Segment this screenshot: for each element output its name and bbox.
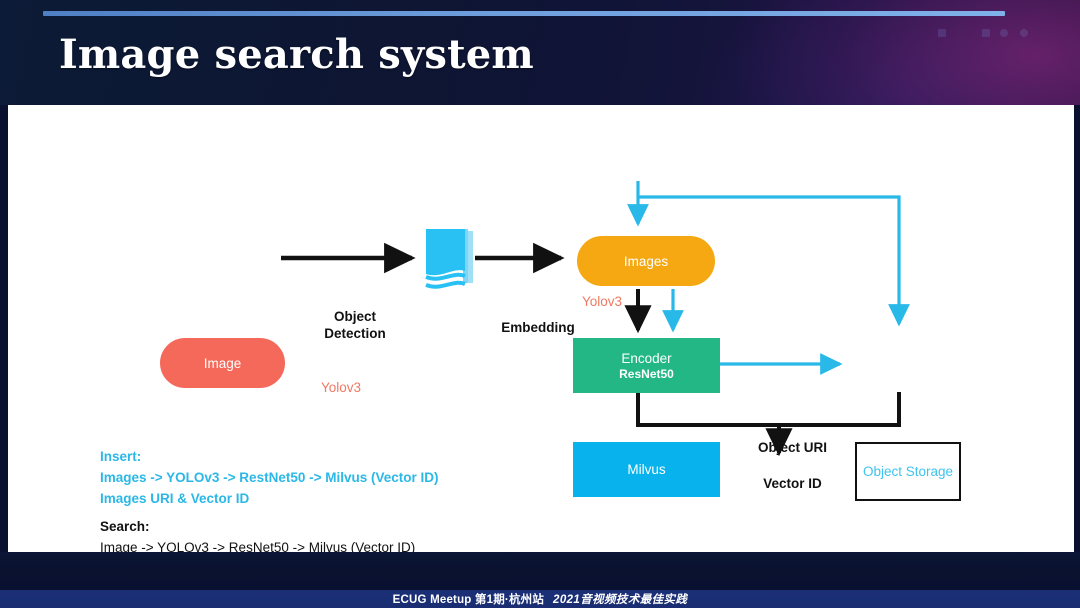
note-insert-heading: Insert:	[100, 446, 439, 467]
node-encoder[interactable]: Encoder ResNet50	[573, 338, 720, 393]
diagram-canvas: Images Image Encoder ResNet50 Milvus Obj…	[8, 105, 1074, 552]
edge-label-object-uri: Object URI	[730, 439, 855, 456]
header-rule	[43, 11, 1005, 16]
edge-label-embedding: Embedding	[484, 319, 592, 336]
edge-label-yolov3-left: Yolov3	[321, 380, 361, 395]
node-images-top[interactable]: Images	[577, 236, 715, 286]
edge-label-vector-id: Vector ID	[730, 475, 855, 492]
node-label: Image	[204, 356, 242, 371]
documents-icon	[420, 227, 482, 295]
square-dot-icon	[938, 29, 946, 37]
footer-theme: 2021音视频技术最佳实践	[553, 591, 687, 607]
note-insert: Insert: Images -> YOLOv3 -> RestNet50 ->…	[100, 446, 439, 509]
round-dot-icon	[982, 29, 990, 37]
slide-header: Image search system	[0, 0, 1080, 105]
edge-milvus-down	[638, 392, 779, 425]
node-milvus[interactable]: Milvus	[573, 442, 720, 497]
node-object-storage[interactable]: Object Storage	[855, 442, 961, 501]
node-image-left[interactable]: Image	[160, 338, 285, 388]
header-decor-dots	[938, 29, 1030, 39]
footer-dark-band	[0, 552, 1080, 590]
note-insert-line1: Images -> YOLOv3 -> RestNet50 -> Milvus …	[100, 467, 439, 488]
edge-label-object-detection: Object Detection	[295, 308, 415, 342]
page-title: Image search system	[59, 28, 534, 82]
node-sublabel: ResNet50	[619, 367, 674, 381]
edge-objectstorage-down	[779, 392, 899, 425]
node-label: Object Storage	[863, 464, 953, 479]
round-dot-icon	[1000, 29, 1008, 37]
node-label: Images	[624, 254, 668, 269]
footer-text: ECUG Meetup 第1期·杭州站 2021音视频技术最佳实践	[0, 590, 1080, 608]
round-dot-icon	[1020, 29, 1028, 37]
edge-label-yolov3-top: Yolov3	[582, 294, 622, 309]
note-insert-line2: Images URI & Vector ID	[100, 488, 439, 509]
node-label: Encoder	[621, 351, 671, 366]
note-search-heading: Search:	[100, 516, 415, 537]
node-label: Milvus	[627, 462, 665, 477]
footer-brand: ECUG Meetup 第1期·杭州站	[393, 591, 544, 607]
slide-root: Image search system	[0, 0, 1080, 608]
